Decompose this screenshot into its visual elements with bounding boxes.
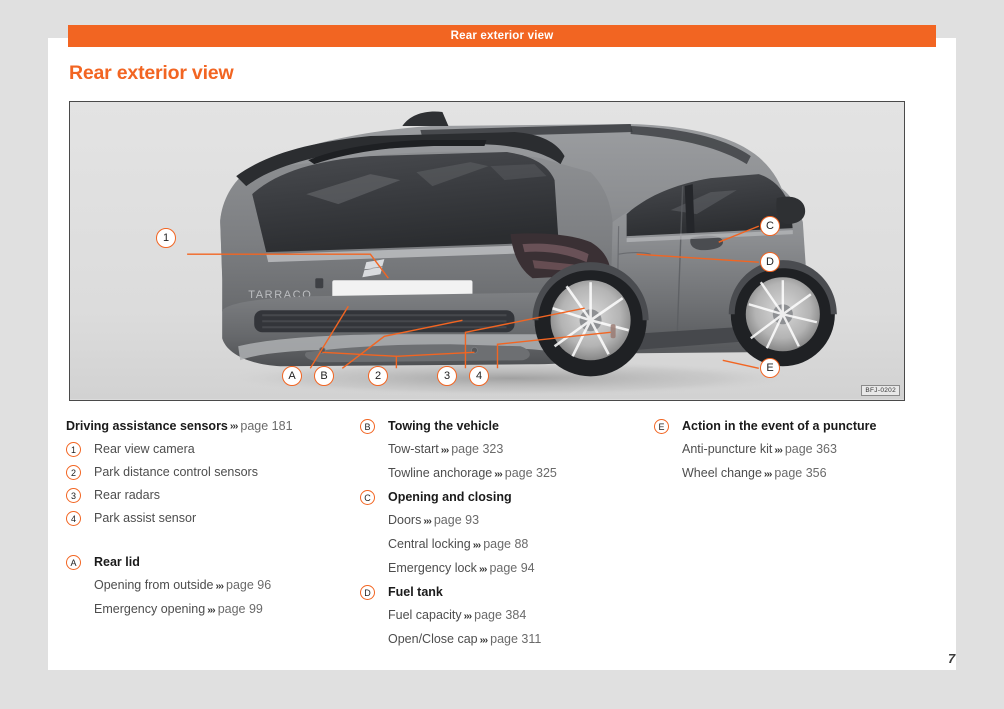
legend-spacer [66, 530, 356, 551]
chevron-icon: ››› [205, 604, 218, 616]
legend-link-label: Emergency lock [388, 561, 477, 575]
legend-link-label: Opening from outside [94, 578, 214, 592]
callout-d: D [760, 252, 780, 272]
legend-entry-d: D Fuel tank [360, 581, 650, 604]
running-head-title: Rear exterior view [451, 30, 554, 42]
list-item: 2 Park distance control sensors [66, 461, 356, 484]
legend-link: Doors›››page 93 [360, 509, 650, 533]
legend-link-page[interactable]: page 356 [774, 466, 826, 480]
marker-c: C [360, 490, 375, 505]
legend-link-page[interactable]: page 93 [434, 513, 479, 527]
legend-link-page[interactable]: page 94 [489, 561, 534, 575]
legend-column-3: E Action in the event of a puncture Anti… [654, 415, 954, 486]
chevron-icon: ››› [477, 563, 490, 575]
list-item: 4 Park assist sensor [66, 507, 356, 530]
legend-link-label: Anti-puncture kit [682, 442, 772, 456]
legend-link-label: Open/Close cap [388, 632, 478, 646]
vehicle-illustration: TARRACO 4DRIVE [70, 102, 904, 399]
legend-entry-c: C Opening and closing [360, 486, 650, 509]
chevron-icon: ››› [492, 468, 505, 480]
chevron-icon: ››› [214, 580, 227, 592]
legend-link: Open/Close cap›››page 311 [360, 628, 650, 652]
chevron-icon: ››› [421, 515, 434, 527]
legend-entry-title: Towing the vehicle [388, 415, 499, 438]
legend-link-page[interactable]: page 363 [785, 442, 837, 456]
list-item-label: Park assist sensor [94, 507, 196, 530]
chevron-icon: ››› [462, 610, 475, 622]
marker-e: E [654, 419, 669, 434]
legend-group-heading: Driving assistance sensors ››› page 181 [66, 415, 356, 438]
chevron-icon: ››› [762, 468, 775, 480]
legend-group-page[interactable]: page 181 [240, 415, 292, 438]
legend-column-1: Driving assistance sensors ››› page 181 … [66, 415, 356, 622]
legend-link-label: Central locking [388, 537, 471, 551]
chevron-icon: ››› [439, 444, 452, 456]
callout-2: 2 [368, 366, 388, 386]
legend-entry-a: A Rear lid [66, 551, 356, 574]
legend-link-label: Towline anchorage [388, 466, 492, 480]
legend-link: Wheel change›››page 356 [654, 462, 954, 486]
callout-4: 4 [469, 366, 489, 386]
legend-link: Fuel capacity›››page 384 [360, 604, 650, 628]
legend-link-label: Tow-start [388, 442, 439, 456]
marker-3: 3 [66, 488, 81, 503]
marker-2: 2 [66, 465, 81, 480]
chevron-icon: ››› [471, 539, 484, 551]
marker-4: 4 [66, 511, 81, 526]
callout-c: C [760, 216, 780, 236]
legend-link: Emergency lock›››page 94 [360, 557, 650, 581]
legend-entry-title: Rear lid [94, 551, 140, 574]
running-head-bar: Rear exterior view [68, 25, 936, 47]
screenshot-root: Rear exterior view 7 Rear exterior view [0, 0, 1004, 709]
legend-link: Emergency opening›››page 99 [66, 598, 356, 622]
page-title: Rear exterior view [69, 62, 233, 85]
list-item-label: Park distance control sensors [94, 461, 258, 484]
figure-reference-code: BFJ-0202 [861, 385, 900, 396]
legend-entry-e: E Action in the event of a puncture [654, 415, 954, 438]
callout-3: 3 [437, 366, 457, 386]
callout-1: 1 [156, 228, 176, 248]
legend-link: Opening from outside›››page 96 [66, 574, 356, 598]
vehicle-figure: TARRACO 4DRIVE [69, 101, 905, 401]
legend-link: Anti-puncture kit›››page 363 [654, 438, 954, 462]
legend-link: Central locking›››page 88 [360, 533, 650, 557]
page-number: 7 [948, 651, 955, 666]
callout-a: A [282, 366, 302, 386]
legend-link-label: Fuel capacity [388, 608, 462, 622]
marker-1: 1 [66, 442, 81, 457]
marker-b: B [360, 419, 375, 434]
callout-e: E [760, 358, 780, 378]
legend-link: Towline anchorage›››page 325 [360, 462, 650, 486]
legend-link-label: Wheel change [682, 466, 762, 480]
legend-link-page[interactable]: page 311 [490, 632, 541, 646]
legend-link-label: Emergency opening [94, 602, 205, 616]
list-item-label: Rear radars [94, 484, 160, 507]
legend-entry-title: Opening and closing [388, 486, 512, 509]
marker-a: A [66, 555, 81, 570]
list-item: 3 Rear radars [66, 484, 356, 507]
legend-link-page[interactable]: page 88 [483, 537, 528, 551]
chevron-icon: ››› [772, 444, 785, 456]
list-item: 1 Rear view camera [66, 438, 356, 461]
legend-entry-b: B Towing the vehicle [360, 415, 650, 438]
legend-entry-title: Fuel tank [388, 581, 443, 604]
legend-link-page[interactable]: page 96 [226, 578, 271, 592]
list-item-label: Rear view camera [94, 438, 195, 461]
legend-link-page[interactable]: page 384 [474, 608, 526, 622]
legend-link-label: Doors [388, 513, 421, 527]
marker-d: D [360, 585, 375, 600]
chevron-icon: ››› [228, 415, 241, 438]
legend-link-page[interactable]: page 99 [218, 602, 263, 616]
figure-legend: Driving assistance sensors ››› page 181 … [66, 415, 946, 645]
legend-link: Tow-start›››page 323 [360, 438, 650, 462]
legend-link-page[interactable]: page 325 [505, 466, 557, 480]
legend-entry-title: Action in the event of a puncture [682, 415, 876, 438]
legend-link-page[interactable]: page 323 [451, 442, 503, 456]
legend-column-2: B Towing the vehicle Tow-start›››page 32… [360, 415, 650, 652]
chevron-icon: ››› [478, 634, 491, 646]
legend-group-title: Driving assistance sensors [66, 415, 228, 438]
callout-b: B [314, 366, 334, 386]
